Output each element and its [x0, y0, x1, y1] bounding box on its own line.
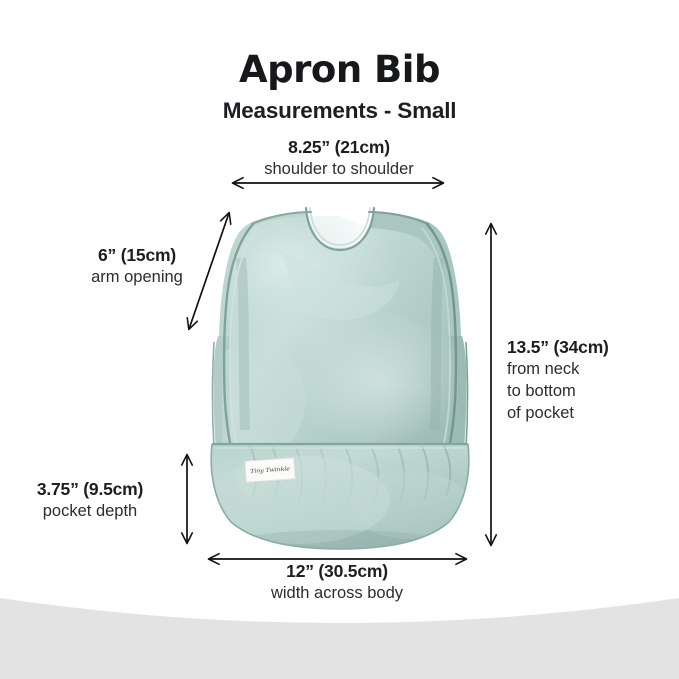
measurement-neck-to-pocket: 13.5” (34cm) from neck to bottom of pock…	[507, 336, 677, 424]
measurement-neck-to-pocket-line1: from neck	[507, 358, 677, 380]
measurement-neck-to-pocket-line3: of pocket	[507, 402, 677, 424]
measurement-body-width-description: width across body	[167, 582, 507, 604]
measurement-pocket-depth: 3.75” (9.5cm) pocket depth	[5, 478, 175, 522]
measurement-body-width: 12” (30.5cm) width across body	[167, 560, 507, 604]
measurement-neck-to-pocket-line2: to bottom	[507, 380, 677, 402]
measurement-shoulder-description: shoulder to shoulder	[169, 158, 509, 180]
measurement-pocket-depth-value: 3.75” (9.5cm)	[5, 478, 175, 500]
page-title: Apron Bib	[0, 48, 679, 91]
measurement-arm-opening-description: arm opening	[37, 266, 237, 288]
measurement-arm-opening-value: 6” (15cm)	[37, 244, 237, 266]
measurement-shoulder-value: 8.25” (21cm)	[169, 136, 509, 158]
measurement-shoulder-to-shoulder: 8.25” (21cm) shoulder to shoulder	[169, 136, 509, 180]
measurement-body-width-value: 12” (30.5cm)	[167, 560, 507, 582]
measurement-pocket-depth-description: pocket depth	[5, 500, 175, 522]
page-subtitle: Measurements - Small	[0, 98, 679, 124]
measurement-arm-opening: 6” (15cm) arm opening	[37, 244, 237, 288]
measurement-diagram: Tiny Twinkle Apron Bib Measurements - Sm…	[0, 0, 679, 679]
measurement-neck-to-pocket-value: 13.5” (34cm)	[507, 336, 677, 358]
